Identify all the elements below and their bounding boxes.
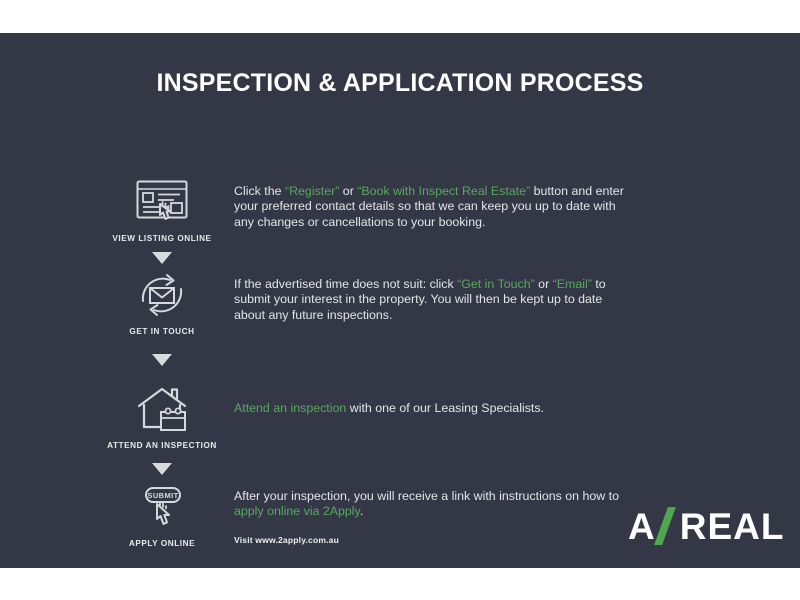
step-icon-column: VIEW LISTING ONLINE	[88, 176, 236, 243]
step-link-apply-online-via-2apply[interactable]: apply online via 2Apply	[234, 504, 360, 518]
flow-arrow-down-icon	[152, 354, 172, 366]
logo-letter-a: A	[628, 508, 656, 545]
house-calendar-icon	[88, 383, 236, 435]
step-label: ATTEND AN INSPECTION	[88, 441, 236, 450]
step-description: Click the “Register” or “Book with Inspe…	[234, 184, 634, 230]
step-icon-column: ATTEND AN INSPECTION	[88, 383, 236, 450]
step-icon-column: GET IN TOUCH	[88, 269, 236, 336]
step-icon-column: SUBMIT APPLY ONLINE	[88, 481, 236, 548]
step-label: APPLY ONLINE	[88, 539, 236, 548]
company-logo: A REAL	[628, 505, 784, 547]
slide-canvas: INSPECTION & APPLICATION PROCESS	[0, 33, 800, 568]
step-link-attend-an-inspection[interactable]: Attend an inspection	[234, 401, 346, 415]
step-text-part: After your inspection, you will receive …	[234, 489, 619, 503]
step-link-book-with-inspect-real-estate[interactable]: “Book with Inspect Real Estate”	[357, 184, 530, 198]
step-text-part: .	[360, 504, 363, 518]
flow-arrow-down-icon	[152, 463, 172, 475]
flow-arrow-down-icon	[152, 252, 172, 264]
step-text-part: If the advertised time does not suit: cl…	[234, 277, 457, 291]
logo-slash-icon	[657, 507, 679, 545]
step-label: GET IN TOUCH	[88, 327, 236, 336]
step-text-part: with one of our Leasing Specialists.	[346, 401, 544, 415]
step-text-part: Click the	[234, 184, 285, 198]
page-title: INSPECTION & APPLICATION PROCESS	[0, 69, 800, 98]
step-link-email[interactable]: “Email”	[553, 277, 592, 291]
step-link-register[interactable]: “Register”	[285, 184, 339, 198]
listing-window-cursor-icon	[88, 176, 236, 228]
step-description: After your inspection, you will receive …	[234, 489, 634, 548]
step-description: If the advertised time does not suit: cl…	[234, 277, 634, 323]
visit-url-note: Visit www.2apply.com.au	[234, 533, 634, 548]
step-description: Attend an inspection with one of our Lea…	[234, 401, 634, 416]
step-text-part: or	[535, 277, 553, 291]
step-label: VIEW LISTING ONLINE	[88, 234, 236, 243]
logo-word-real: REAL	[680, 508, 785, 545]
envelope-refresh-icon	[88, 269, 236, 321]
step-text-part: or	[339, 184, 357, 198]
submit-button-cursor-icon: SUBMIT	[88, 481, 236, 533]
step-link-get-in-touch[interactable]: “Get in Touch”	[457, 277, 535, 291]
svg-text:SUBMIT: SUBMIT	[147, 491, 178, 500]
